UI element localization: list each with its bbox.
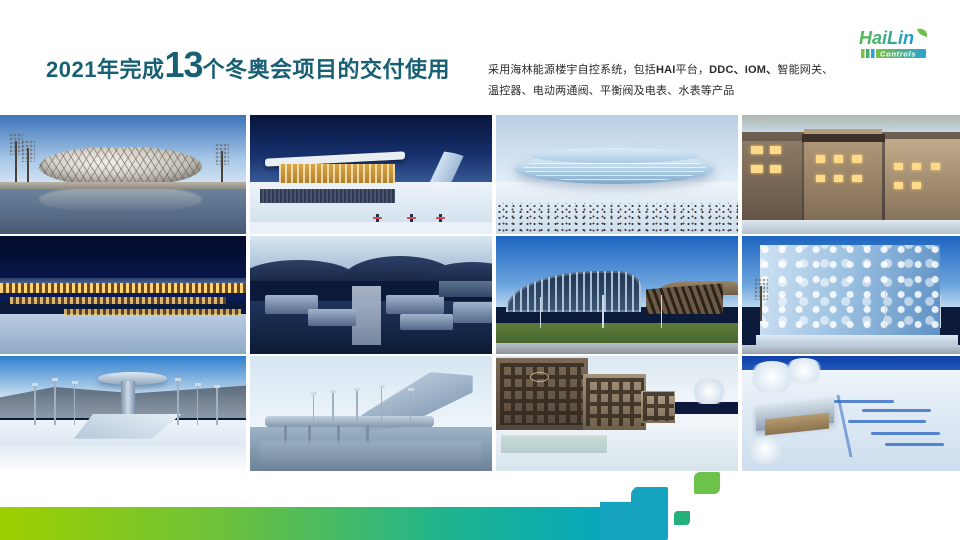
rooftop	[453, 302, 492, 323]
flood-light-pole	[216, 388, 218, 425]
course-marker	[834, 400, 894, 403]
hotel-roof	[802, 134, 885, 142]
window	[912, 163, 921, 170]
gallery-image-water-cube-aquatics[interactable]	[742, 236, 960, 354]
gallery-image-aerial-dusk-village[interactable]	[250, 236, 492, 354]
logo-bar-3	[871, 49, 875, 58]
olympic-rings-emblem	[530, 372, 549, 382]
flood-light-pole	[34, 386, 36, 425]
foreground-haze	[0, 446, 246, 471]
window	[834, 155, 843, 162]
village-building-mid	[583, 374, 646, 429]
subtitle-hai-platform: HAI	[656, 64, 676, 76]
subtitle-line1-a: 采用海林能源楼宇自控系统，包括	[488, 64, 656, 76]
rooftop	[386, 295, 444, 314]
leaf-icon	[917, 29, 927, 37]
gallery-image-speed-skating-oval[interactable]	[496, 115, 738, 234]
window	[912, 182, 921, 189]
lit-building-row-2	[10, 297, 227, 304]
decor-green-square-small	[674, 511, 690, 525]
glass-balustrade	[501, 435, 607, 453]
gallery-image-night-village-lights[interactable]	[0, 236, 246, 354]
village-building-far	[641, 391, 675, 423]
subtitle-ddc-iom: DDC、IOM、	[709, 64, 777, 76]
tree	[760, 286, 762, 321]
gallery-image-snow-ruyi-ski-jump[interactable]	[0, 356, 246, 471]
title-prefix: 2021年完成	[46, 57, 164, 82]
gallery-image-biathlon-centre[interactable]	[742, 356, 960, 471]
flood-light-pole	[410, 391, 412, 423]
window	[770, 165, 782, 173]
decor-teal-step-notch	[631, 487, 668, 514]
street-lamp	[885, 290, 887, 328]
flood-light-pole	[313, 395, 315, 423]
snow-foreground	[742, 220, 960, 234]
flood-light-pole	[197, 386, 199, 425]
window	[834, 175, 843, 182]
flood-light-pole	[381, 388, 383, 423]
course-marker	[848, 420, 926, 423]
window	[852, 175, 861, 182]
subtitle-line1-e: 智能	[777, 64, 799, 76]
water-reflection	[260, 441, 483, 471]
gallery-image-cross-country-ski-venue[interactable]	[250, 115, 492, 234]
gallery-image-olympic-village-snow[interactable]	[496, 356, 738, 471]
course-marker	[871, 432, 940, 435]
plaza-paving	[742, 345, 960, 354]
title-suffix: 个冬奥会项目的交付使用	[203, 57, 451, 82]
street-lamp	[602, 295, 604, 328]
gallery-image-curved-glass-hall[interactable]	[496, 236, 738, 354]
viewing-deck	[265, 416, 434, 428]
window	[816, 155, 825, 162]
title-number: 13	[164, 44, 202, 85]
street-lamp	[940, 295, 942, 328]
ski-track	[250, 222, 492, 234]
subtitle-line1-c: 平台，	[676, 64, 710, 76]
village-building-front	[496, 358, 588, 429]
spectator-crowd	[260, 189, 396, 203]
oval-roof	[530, 148, 699, 162]
window	[894, 182, 903, 189]
logo-bar-2	[866, 49, 870, 58]
course-marker	[885, 443, 945, 446]
stadium-shell	[39, 147, 201, 186]
logo-svg: HaiLin Controls	[857, 25, 949, 65]
rooftop	[308, 309, 356, 326]
flood-light-pole	[332, 393, 334, 423]
frosted-tree	[690, 379, 729, 404]
logo-wordmark: HaiLin	[859, 28, 914, 48]
slide-root: 2021年完成13个冬奥会项目的交付使用 采用海林能源楼宇自控系统，包括HAI平…	[0, 0, 960, 540]
hailin-controls-logo: HaiLin Controls	[857, 25, 949, 65]
gallery-image-resort-hotel[interactable]	[742, 115, 960, 234]
page-title: 2021年完成13个冬奥会项目的交付使用	[46, 47, 450, 83]
flood-light-pole	[356, 391, 358, 423]
road	[496, 343, 738, 354]
gallery-image-birds-nest-stadium[interactable]	[0, 115, 246, 234]
project-gallery-grid	[0, 115, 960, 467]
lake	[439, 281, 492, 298]
window	[751, 146, 763, 154]
street-lamp	[661, 295, 663, 328]
flood-light-pole	[177, 381, 179, 425]
slide-header: 2021年完成13个冬奥会项目的交付使用 采用海林能源楼宇自控系统，包括HAI平…	[0, 0, 960, 115]
window	[816, 175, 825, 182]
street-lamp	[540, 297, 542, 328]
window	[931, 163, 940, 170]
stadium-reflection	[39, 186, 201, 212]
shoreline	[0, 182, 246, 189]
ridge	[0, 278, 246, 283]
pavilion-facade	[279, 164, 395, 183]
window	[894, 163, 903, 170]
bubble-facade	[760, 245, 939, 335]
subtitle-description: 采用海林能源楼宇自控系统，包括HAI平台，DDC、IOM、智能网关、温控器、电动…	[488, 60, 840, 102]
rooftop	[400, 314, 453, 331]
logo-tagline: Controls	[880, 49, 916, 58]
footer-gradient-bar	[0, 507, 640, 540]
lit-building-row-1	[0, 283, 246, 292]
window	[751, 165, 763, 173]
frosted-tree	[783, 358, 824, 383]
crowd-dots	[496, 203, 738, 234]
decor-green-square-large	[694, 472, 720, 494]
lit-building-row-3	[64, 309, 241, 315]
flood-light-pole	[74, 384, 76, 425]
gallery-image-big-air-shougang[interactable]	[250, 356, 492, 471]
logo-bar-1	[861, 49, 865, 58]
course-marker	[862, 409, 931, 412]
snow-ground	[0, 314, 246, 354]
window	[770, 146, 782, 154]
window	[852, 155, 861, 162]
hotel-wing-center	[804, 129, 882, 234]
flood-light-pole	[54, 381, 56, 425]
